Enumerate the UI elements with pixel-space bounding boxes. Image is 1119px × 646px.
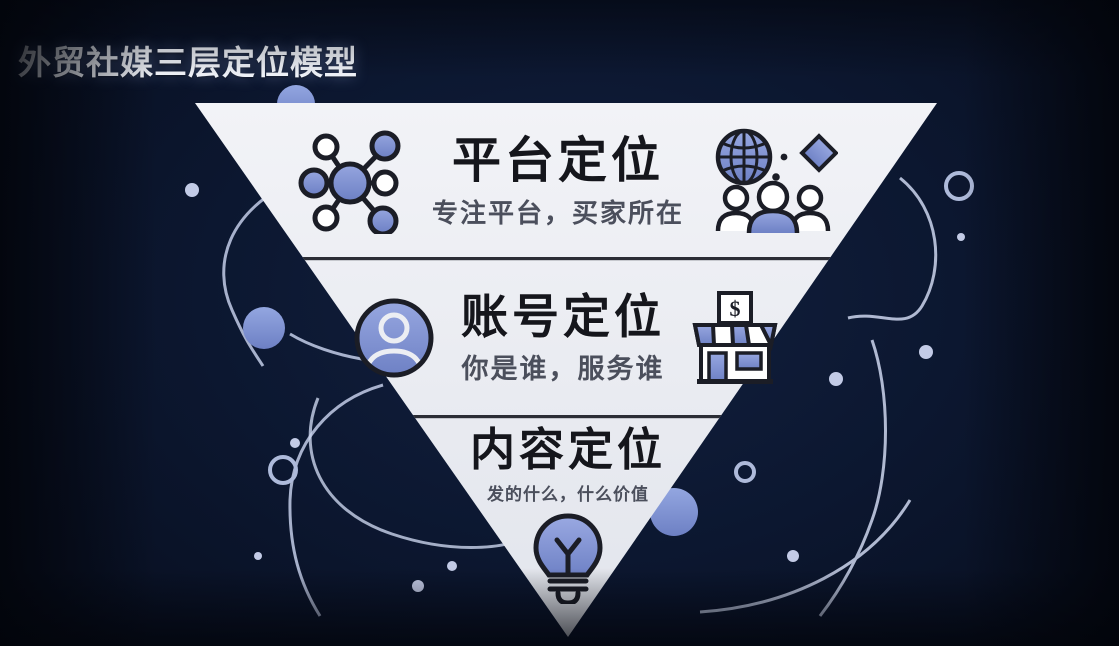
pyramid-layer-account-text: 账号定位 你是谁，服务谁 <box>461 293 665 383</box>
pyramid-layer-platform-subtitle: 专注平台，买家所在 <box>432 200 684 226</box>
slide-canvas: 外贸社媒三层定位模型 <box>0 0 1119 646</box>
pyramid-layer-platform-heading: 平台定位 <box>452 137 664 186</box>
pyramid-layer-content-heading: 内容定位 <box>470 427 666 472</box>
decor-ring <box>946 173 972 199</box>
people-glyph <box>718 183 828 233</box>
pyramid-layer-account[interactable]: 账号定位 你是谁，服务谁 $ <box>241 259 891 417</box>
pyramid-layer-content[interactable]: 内容定位 发的什么，什么价值 <box>288 417 848 527</box>
diamond-glyph <box>802 136 836 170</box>
pyramid-layer-platform[interactable]: 平台定位 专注平台，买家所在 <box>195 103 937 259</box>
globe-glyph <box>718 131 770 183</box>
network-hub-icon <box>294 128 406 234</box>
page-title: 外贸社媒三层定位模型 <box>18 36 358 84</box>
pyramid-layer-account-heading: 账号定位 <box>461 293 665 340</box>
pyramid-layer-platform-text: 平台定位 专注平台，买家所在 <box>432 137 684 226</box>
pyramid-layer-content-text: 内容定位 发的什么，什么价值 <box>470 427 666 503</box>
lightbulb-icon <box>528 512 608 604</box>
sparkle-dot <box>772 173 780 181</box>
svg-text:$: $ <box>730 296 741 321</box>
pyramid-layer-content-subtitle: 发的什么，什么价值 <box>487 486 649 503</box>
user-avatar-icon <box>351 295 437 381</box>
storefront-icon: $ <box>689 291 781 385</box>
globe-audience-icon <box>710 127 838 235</box>
sparkle-dot <box>781 154 788 161</box>
pyramid-layer-account-subtitle: 你是谁，服务谁 <box>462 356 665 383</box>
